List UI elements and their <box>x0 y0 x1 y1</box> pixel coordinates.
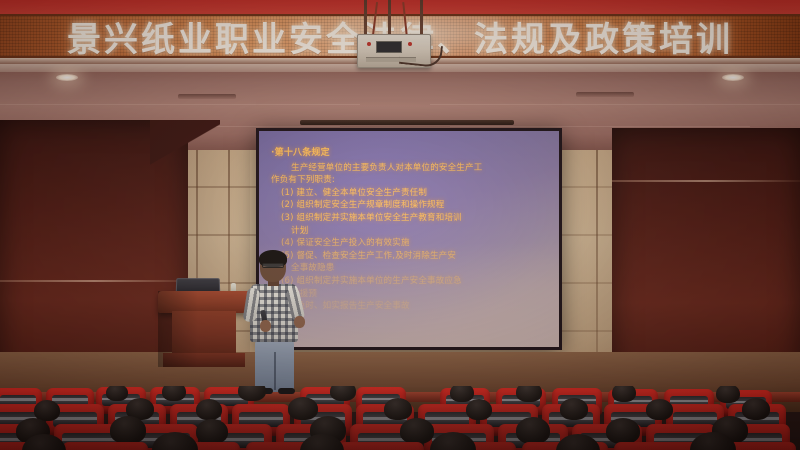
slide-heading: ·第十八条规定 <box>271 147 549 160</box>
ceiling-air-vent <box>178 94 236 99</box>
attendee-head <box>516 386 542 402</box>
attendee-head <box>606 418 640 444</box>
wood-panel-seam <box>0 280 188 282</box>
attendee-head <box>646 399 673 420</box>
ceiling-downlight-icon <box>56 74 78 81</box>
attendee-head <box>742 398 770 420</box>
seat <box>614 442 700 450</box>
ceiling-air-vent <box>576 92 634 97</box>
attendee-head <box>612 386 636 402</box>
ceiling-downlight-icon <box>722 74 744 81</box>
attendee-head <box>162 386 186 401</box>
audience-seating <box>0 386 800 450</box>
attendee-head <box>106 386 128 401</box>
slide-line: (3) 组织制定并实施本单位安全生产教育和培训 <box>271 212 549 225</box>
seat-pad-highlight <box>0 398 36 400</box>
slide-line: 作负有下列职责: <box>271 174 549 187</box>
auditorium-scene: ·第十八条规定 生产经营单位的主要负责人对本单位的安全生产工 作负有下列职责: … <box>0 0 800 450</box>
ceiling-seam <box>430 104 800 105</box>
attendee-head <box>384 398 412 420</box>
glasses-icon <box>262 263 284 268</box>
attendee-head <box>516 417 550 444</box>
attendee-head <box>196 399 222 420</box>
attendee-head <box>196 419 228 444</box>
lectern-shadow <box>158 291 198 367</box>
attendee-head <box>560 398 588 420</box>
attendee-head <box>288 397 318 420</box>
seat-pad-highlight <box>673 417 717 420</box>
slide-line: 计划 <box>271 225 549 238</box>
presenter-right-hand <box>294 316 305 328</box>
seat-pad-highlight <box>62 438 115 441</box>
attendee-head <box>466 399 492 420</box>
seat-pad-highlight <box>53 417 97 420</box>
mount-wire <box>402 2 408 36</box>
left-wood-panel-bevel <box>150 120 220 178</box>
presenter-left-hand <box>260 320 271 332</box>
seat <box>62 442 148 450</box>
slide-line: (1) 建立、健全本单位安全生产责任制 <box>271 187 549 200</box>
attendee-head <box>238 386 266 401</box>
screen-roller-housing <box>300 120 514 125</box>
seat-pad-highlight <box>670 400 708 402</box>
mount-wire <box>372 2 378 36</box>
projector-display-panel <box>376 41 402 53</box>
ceiling-seam <box>0 104 360 105</box>
seat-pad-highlight <box>239 417 283 420</box>
ceiling-seam <box>450 126 750 127</box>
projector-indicator-icon <box>367 42 371 46</box>
slide-line: 生产经营单位的主要负责人对本单位的安全生产工 <box>271 162 549 175</box>
wood-panel-seam <box>612 180 800 182</box>
attendee-head <box>110 416 146 444</box>
seat-pad-highlight <box>425 417 469 420</box>
presenter-leg-seam <box>274 352 276 390</box>
slide-line: (4) 保证安全生产投入的有效实施 <box>271 237 549 250</box>
slide-line: (2) 组织制定安全生产规章制度和操作规程 <box>271 199 549 212</box>
attendee-head <box>716 386 740 403</box>
seat-pad-highlight <box>52 398 88 400</box>
attendee-head <box>400 418 434 444</box>
attendee-head <box>330 386 356 401</box>
presenter <box>236 252 316 392</box>
attendee-head <box>450 386 474 402</box>
seat <box>338 442 424 450</box>
